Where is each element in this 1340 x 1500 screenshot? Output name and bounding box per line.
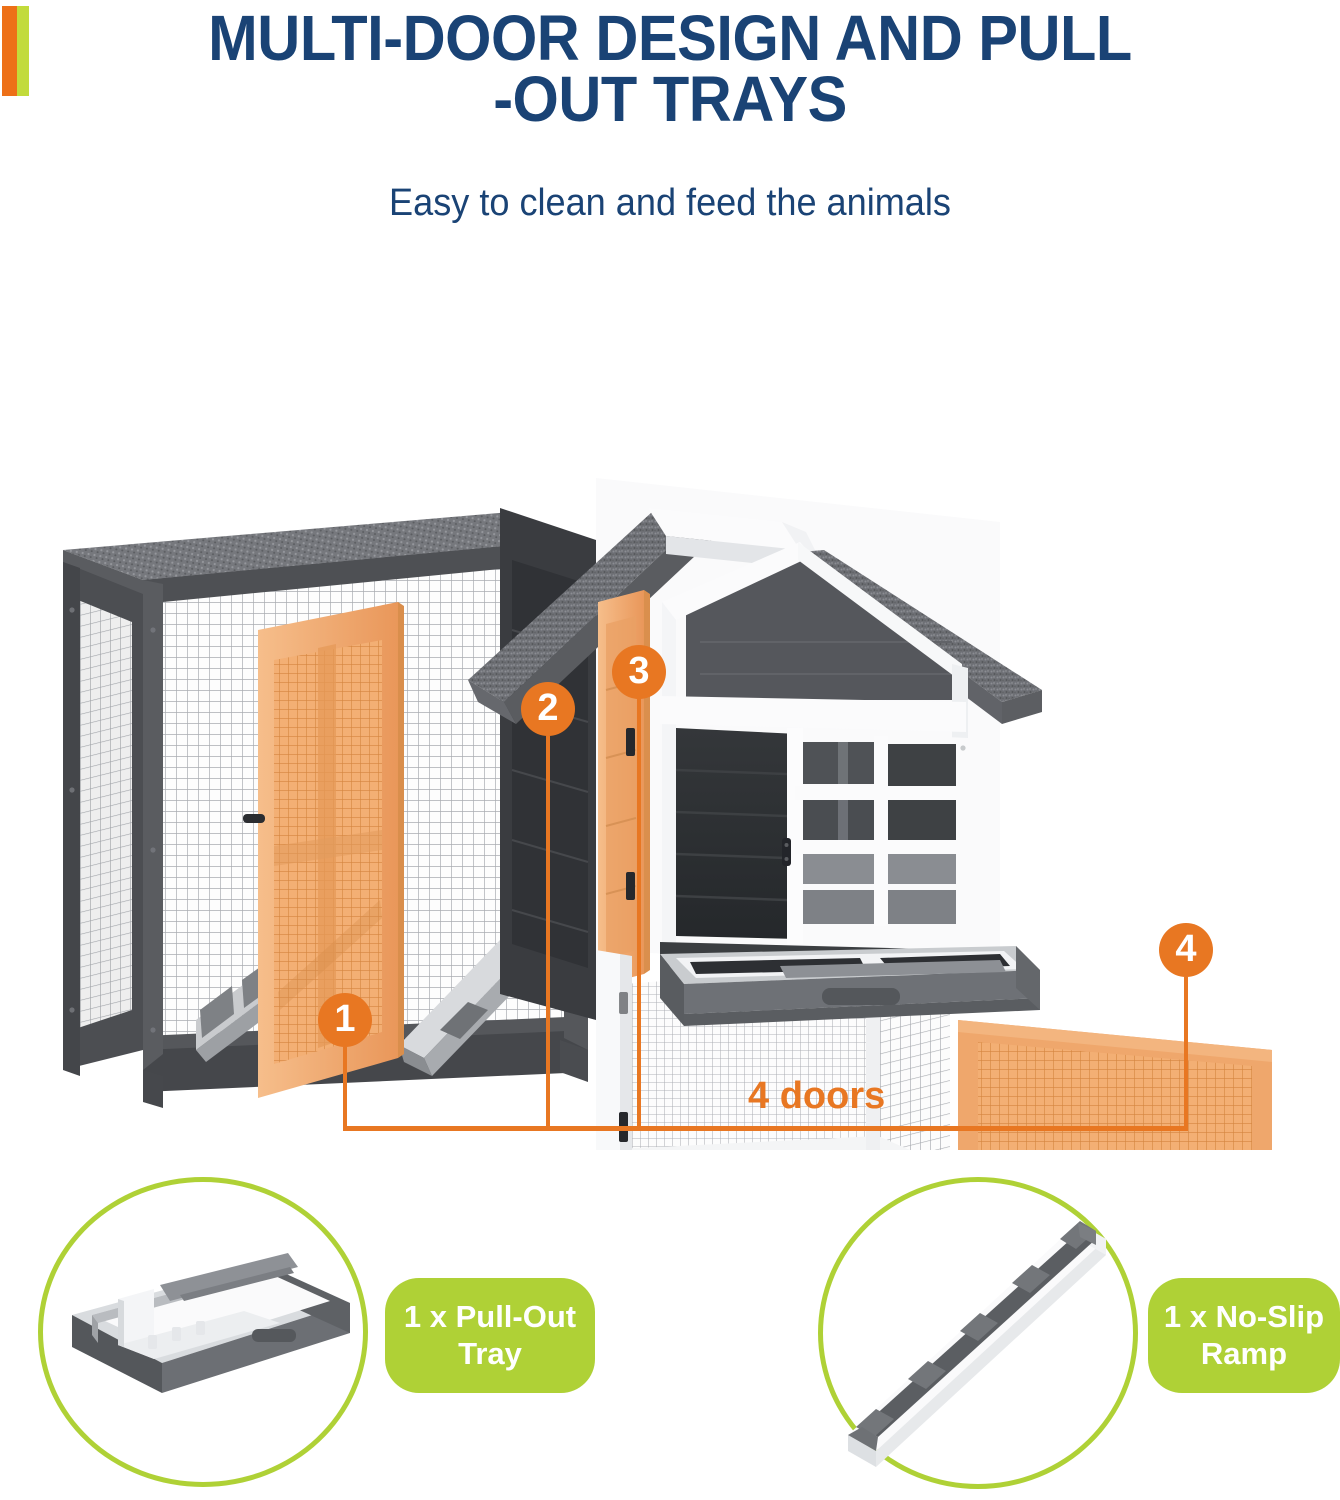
ramp-label-pill: 1 x No-Slip Ramp bbox=[1148, 1278, 1340, 1393]
ramp-label-line-1: 1 x No-Slip bbox=[1164, 1299, 1324, 1334]
leader-line-1 bbox=[343, 1047, 347, 1130]
callout-badge-2-number: 2 bbox=[537, 689, 558, 727]
page-subtitle: Easy to clean and feed the animals bbox=[34, 182, 1307, 225]
callout-badge-1[interactable]: 1 bbox=[318, 993, 372, 1047]
tray-illustration bbox=[30, 1175, 430, 1495]
product-illustration bbox=[0, 250, 1340, 1150]
leader-line-3 bbox=[637, 699, 641, 1130]
callout-badge-4-number: 4 bbox=[1175, 930, 1196, 968]
ramp-illustration bbox=[790, 1175, 1190, 1495]
tray-label-line-1: 1 x Pull-Out bbox=[404, 1299, 576, 1334]
callout-badge-4[interactable]: 4 bbox=[1159, 923, 1213, 977]
ramp-label-text: 1 x No-Slip Ramp bbox=[1164, 1299, 1324, 1372]
ramp-label-line-2: Ramp bbox=[1201, 1336, 1287, 1371]
tray-label-pill: 1 x Pull-Out Tray bbox=[385, 1278, 595, 1393]
accent-bar-orange bbox=[2, 6, 17, 96]
page-title: MULTI-DOOR DESIGN AND PULL -OUT TRAYS bbox=[47, 8, 1293, 130]
accessory-pull-out-tray: 1 x Pull-Out Tray bbox=[30, 1175, 650, 1495]
tray-label-line-2: Tray bbox=[458, 1336, 522, 1371]
page-title-line-2: -OUT TRAYS bbox=[47, 69, 1293, 130]
accent-bar-lime bbox=[17, 6, 29, 96]
callout-badge-3[interactable]: 3 bbox=[612, 645, 666, 699]
doors-count-label: 4 doors bbox=[748, 1075, 885, 1118]
doors-summary-line bbox=[343, 1126, 1188, 1131]
header-accent-bars bbox=[2, 6, 30, 96]
leader-line-2 bbox=[546, 736, 550, 1130]
accessory-no-slip-ramp: 1 x No-Slip Ramp bbox=[790, 1175, 1340, 1495]
tray-label-text: 1 x Pull-Out Tray bbox=[404, 1299, 576, 1372]
callout-badge-3-number: 3 bbox=[628, 652, 649, 690]
callout-badge-1-number: 1 bbox=[334, 1000, 355, 1038]
infographic-page: MULTI-DOOR DESIGN AND PULL -OUT TRAYS Ea… bbox=[0, 0, 1340, 1500]
leader-line-4 bbox=[1184, 977, 1188, 1130]
callout-badge-2[interactable]: 2 bbox=[521, 682, 575, 736]
